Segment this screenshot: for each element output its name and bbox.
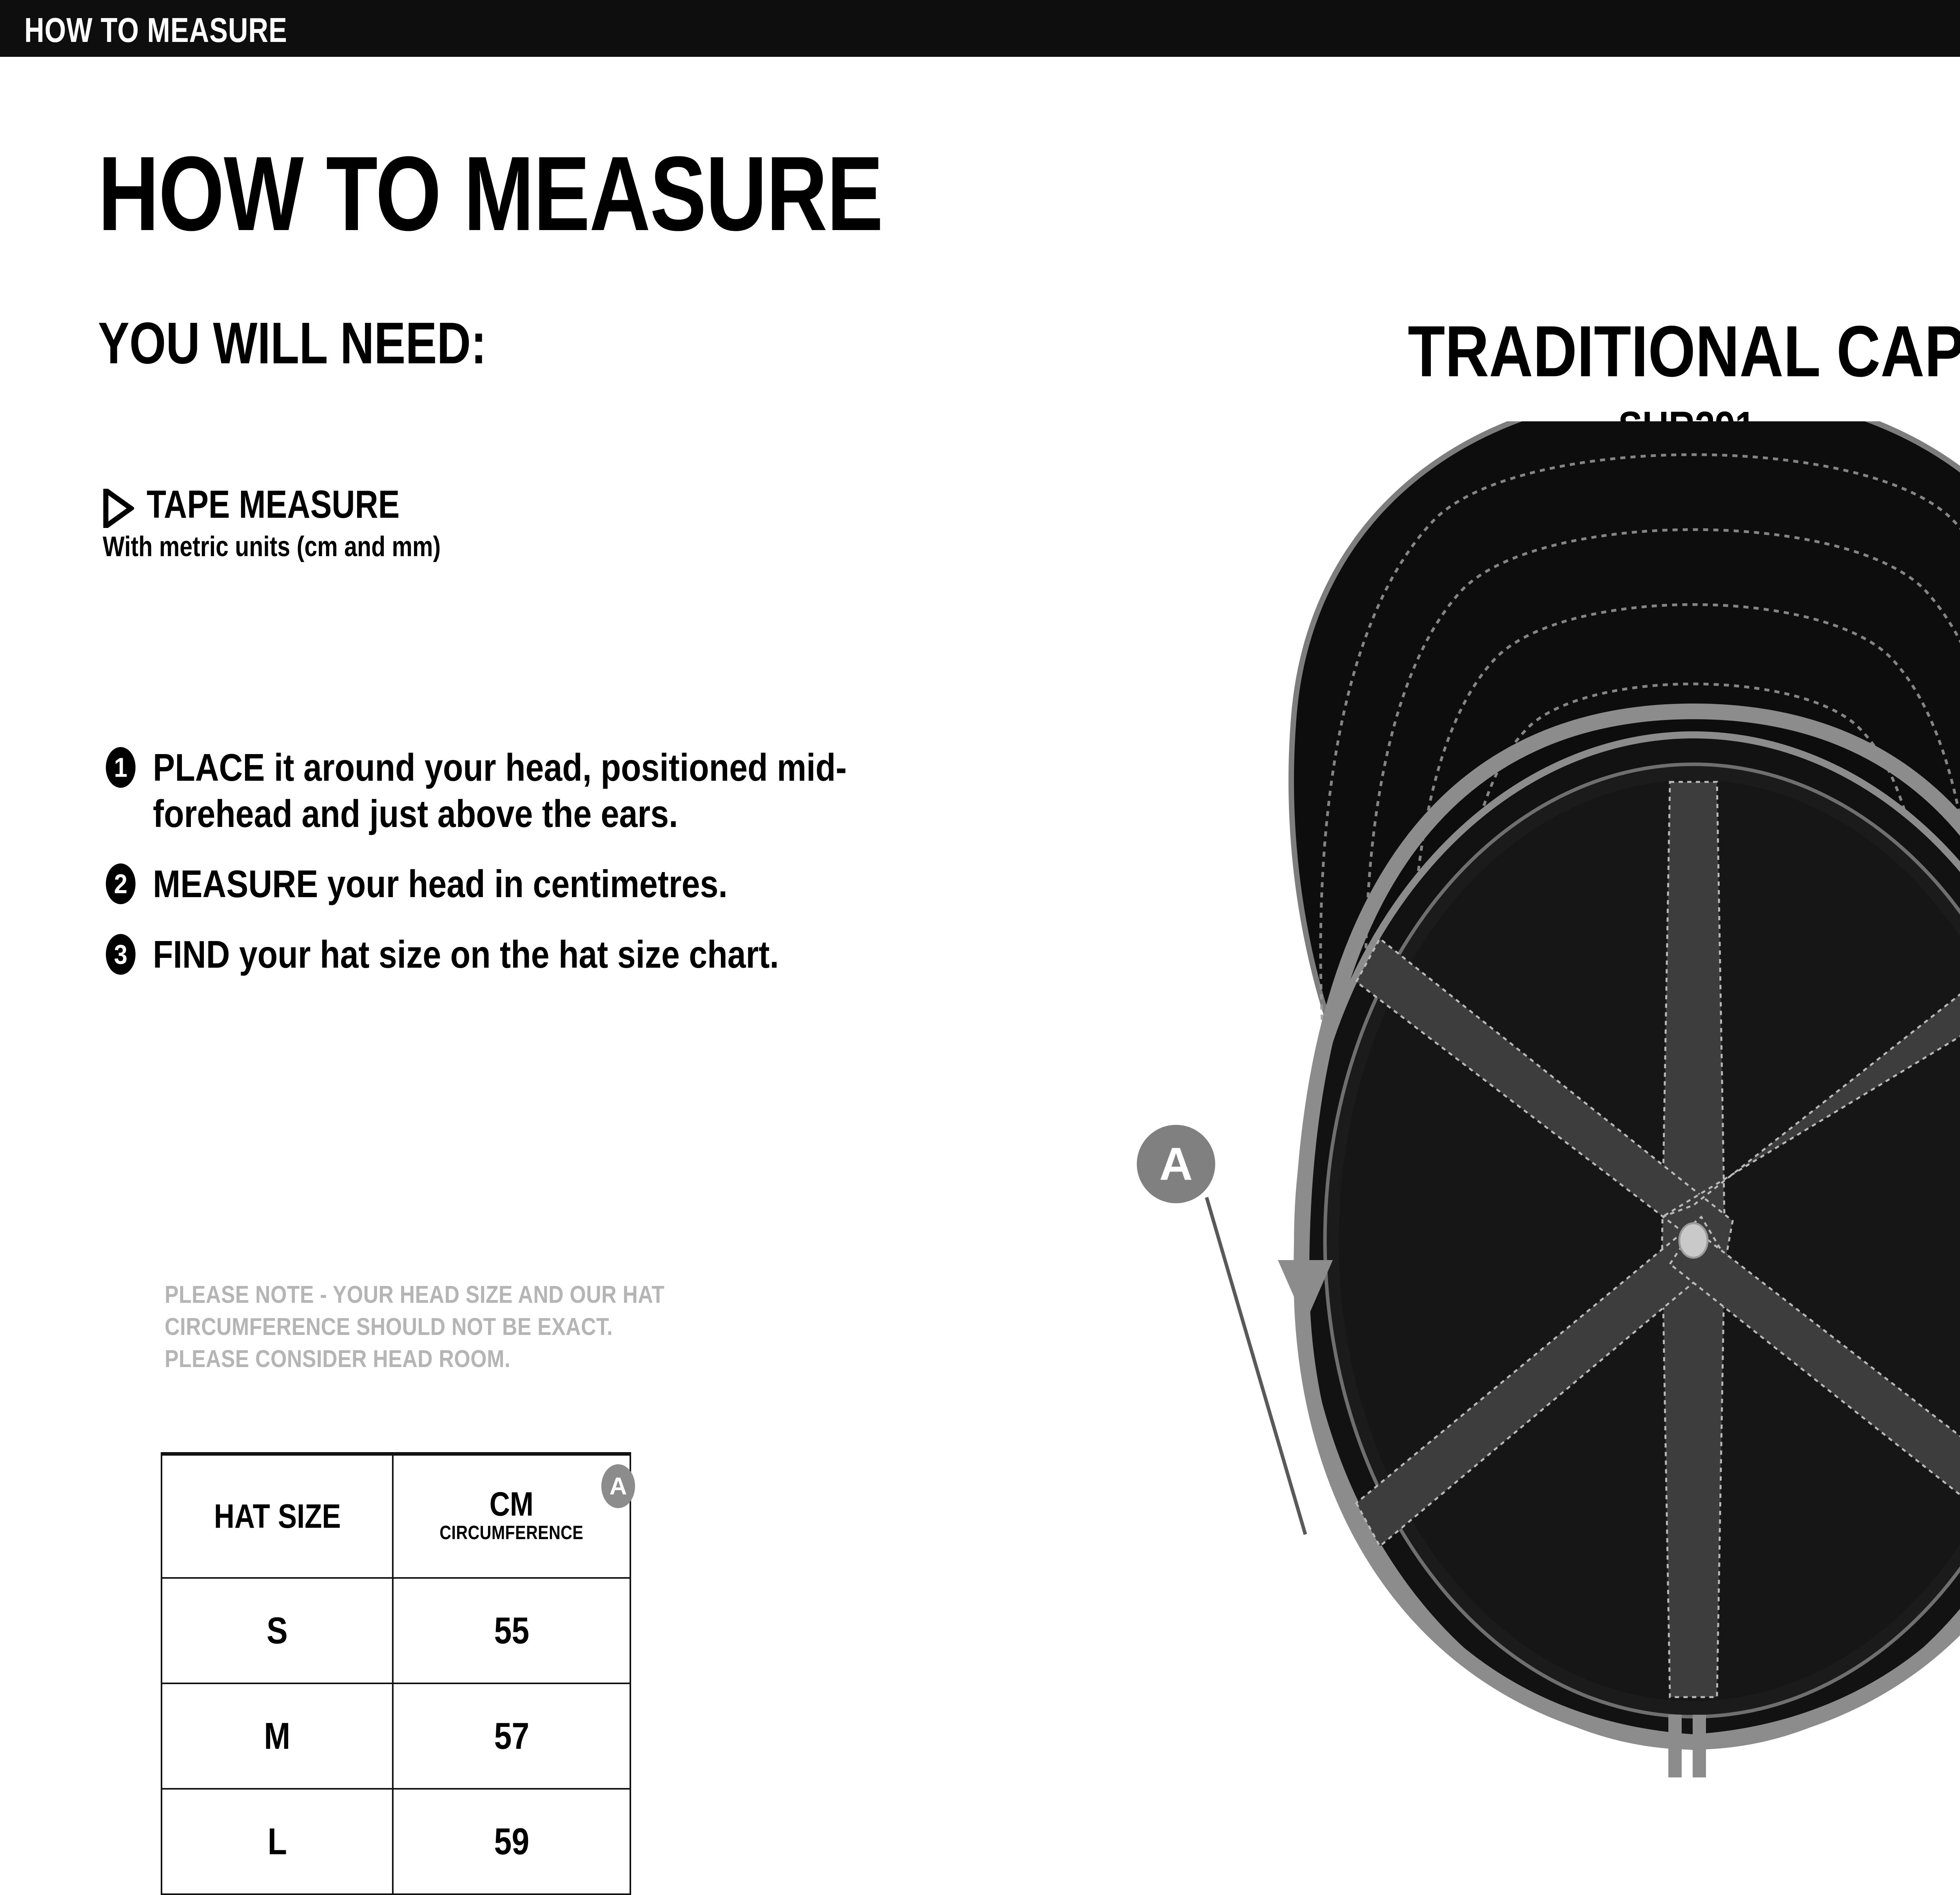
cell-hat-size: L — [162, 1789, 393, 1894]
table-header-cm: CM CIRCUMFERENCE A — [393, 1454, 630, 1578]
band-tick-right-icon — [1693, 1715, 1706, 1777]
table-row: L 59 — [162, 1789, 630, 1894]
left-column: HOW TO MEASURE YOU WILL NEED: TAPE MEASU… — [0, 57, 1058, 1826]
tape-measure-label: TAPE MEASURE — [147, 485, 399, 524]
value-cm: 57 — [494, 1715, 529, 1758]
table-header-row: HAT SIZE CM CIRCUMFERENCE A — [162, 1454, 630, 1578]
cell-cm: 59 — [393, 1789, 630, 1894]
band-tick-left-icon — [1668, 1715, 1682, 1777]
cell-hat-size: M — [162, 1683, 393, 1789]
value-hat-size: S — [267, 1609, 288, 1652]
cell-cm: 55 — [393, 1578, 630, 1683]
value-cm: 59 — [494, 1820, 529, 1863]
page-title: HOW TO MEASURE — [98, 141, 883, 247]
hat-size-table: HAT SIZE CM CIRCUMFERENCE A S 55 M 57 L … — [161, 1452, 631, 1895]
cap-diagram-svg: A — [1058, 421, 1960, 1817]
top-header-bar: HOW TO MEASURE SURRIDGE — [0, 0, 1960, 57]
step-number-badge: 3 — [106, 934, 136, 975]
table-row: M 57 — [162, 1683, 630, 1789]
header-title: HOW TO MEASURE — [24, 10, 287, 50]
header-label-circumference: CIRCUMFERENCE — [413, 1521, 611, 1545]
callout-a: A — [1137, 1125, 1305, 1534]
step-text: FIND your hat size on the hat size chart… — [153, 932, 861, 978]
callout-leader-line — [1207, 1197, 1305, 1534]
table-header-hat-size: HAT SIZE — [162, 1454, 393, 1578]
steps-list: 1 PLACE it around your head, positioned … — [106, 745, 890, 1002]
table-row: S 55 — [162, 1578, 630, 1683]
value-hat-size: L — [268, 1820, 287, 1863]
cell-cm: 57 — [393, 1683, 630, 1789]
value-hat-size: M — [264, 1715, 290, 1758]
value-cm: 55 — [494, 1609, 529, 1652]
step-item: 1 PLACE it around your head, positioned … — [106, 745, 890, 837]
step-text: PLACE it around your head, positioned mi… — [153, 745, 861, 837]
step-number-badge: 2 — [106, 863, 136, 904]
step-item: 2 MEASURE your head in centimetres. — [106, 861, 890, 907]
triangle-right-icon — [103, 489, 134, 528]
right-column: TRADITIONAL CAP SUR291 — [1058, 57, 1960, 1826]
product-title-text: TRADITIONAL CAP — [1408, 316, 1960, 388]
header-label-cm: CM — [413, 1487, 611, 1521]
tape-measure-sublabel: With metric units (cm and mm) — [103, 533, 441, 561]
step-text: MEASURE your head in centimetres. — [153, 861, 861, 907]
cell-hat-size: S — [162, 1578, 393, 1683]
you-will-need-heading: YOU WILL NEED: — [98, 314, 486, 372]
step-number-badge: 1 — [106, 747, 136, 788]
callout-badge-a-label: A — [1159, 1138, 1192, 1190]
header-label-hat-size: HAT SIZE — [214, 1497, 341, 1536]
cap-illustration: A — [1058, 421, 1960, 1817]
callout-badge-a-table: A — [601, 1464, 635, 1508]
product-title: TRADITIONAL CAP — [1058, 316, 1960, 388]
crown-button-icon — [1679, 1223, 1708, 1258]
step-item: 3 FIND your hat size on the hat size cha… — [106, 932, 890, 978]
please-note-text: PLEASE NOTE - YOUR HEAD SIZE AND OUR HAT… — [165, 1279, 664, 1375]
